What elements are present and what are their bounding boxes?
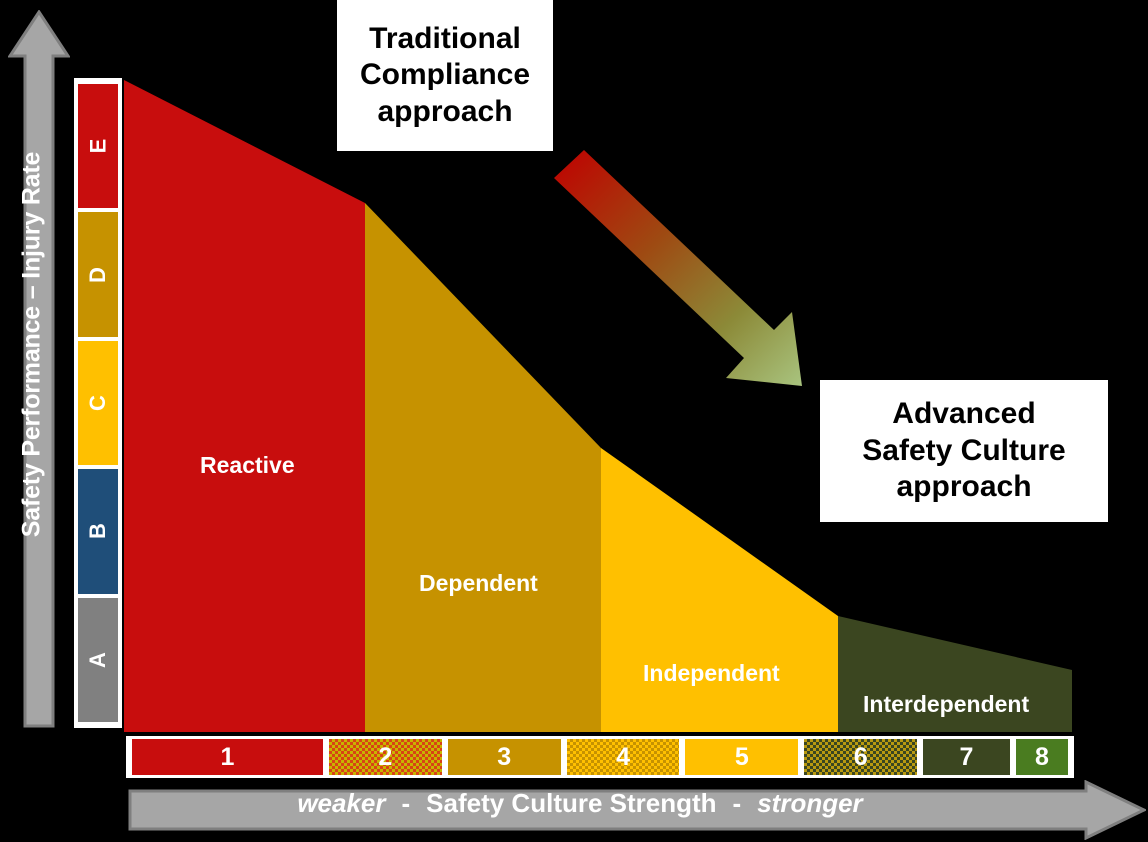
grade-cell-c: C — [78, 341, 118, 465]
scale-step-7-number: 7 — [960, 743, 974, 772]
scale-step-2-number: 2 — [378, 743, 392, 772]
transition-arrow — [540, 140, 840, 400]
scale-step-1: 1 — [132, 739, 323, 775]
callout-advanced-safety-culture: Advanced Safety Culture approach — [816, 376, 1112, 526]
scale-step-2: 2 — [329, 739, 442, 775]
grade-cell-b: B — [78, 469, 118, 593]
scale-step-7: 7 — [923, 739, 1010, 775]
grade-cell-d: D — [78, 212, 118, 336]
callout-advanced-line3: approach — [896, 469, 1031, 506]
scale-step-8: 8 — [1016, 739, 1068, 775]
grade-label-b: B — [85, 523, 111, 539]
scale-step-1-number: 1 — [221, 743, 235, 772]
safety-culture-maturity-diagram: Safety Performance – Injury Rate E D C B… — [0, 0, 1148, 842]
grade-label-d: D — [85, 267, 111, 283]
grade-cell-a: A — [78, 598, 118, 722]
scale-step-5-number: 5 — [735, 743, 749, 772]
y-axis-arrow — [8, 10, 70, 728]
callout-traditional-line1: Traditional — [369, 21, 521, 58]
scale-step-6-number: 6 — [854, 743, 868, 772]
scale-step-6: 6 — [804, 739, 917, 775]
curve-area-interdependent — [838, 616, 1072, 732]
x-axis-arrow — [128, 780, 1146, 840]
curve-area-independent — [601, 448, 838, 732]
culture-strength-scale: 1 2 3 4 5 6 7 8 — [126, 736, 1074, 778]
curve-area-reactive — [124, 80, 365, 732]
callout-advanced-line1: Advanced — [892, 396, 1035, 433]
grade-label-a: A — [85, 652, 111, 668]
grade-cell-e: E — [78, 84, 118, 208]
scale-step-3-number: 3 — [497, 743, 511, 772]
scale-step-5: 5 — [685, 739, 798, 775]
grade-legend-column: E D C B A — [74, 78, 122, 728]
callout-traditional-line2: Compliance — [360, 57, 530, 94]
scale-step-4: 4 — [567, 739, 680, 775]
callout-traditional-line3: approach — [377, 94, 512, 131]
grade-label-e: E — [85, 139, 111, 154]
callout-advanced-line2: Safety Culture — [862, 433, 1065, 470]
grade-label-c: C — [85, 395, 111, 411]
scale-step-8-number: 8 — [1035, 743, 1049, 772]
scale-step-4-number: 4 — [616, 743, 630, 772]
scale-step-3: 3 — [448, 739, 561, 775]
callout-traditional-compliance: Traditional Compliance approach — [333, 0, 557, 155]
